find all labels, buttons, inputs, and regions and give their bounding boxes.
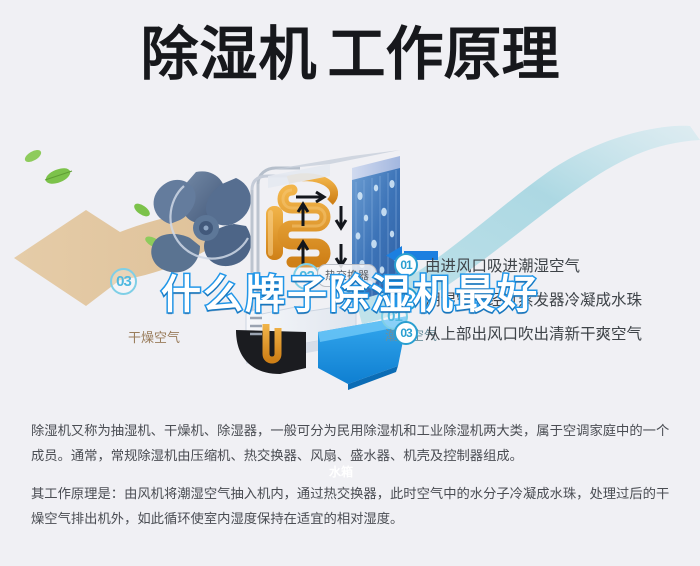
- page-title: 除湿机工作原理: [0, 26, 700, 84]
- body-copy: 除湿机又称为抽湿机、干燥机、除湿器，一般可分为民用除湿机和工业除湿机两大类，属于…: [31, 418, 671, 544]
- leaf-icon: [132, 201, 152, 219]
- paragraph-1: 除湿机又称为抽湿机、干燥机、除湿器，一般可分为民用除湿机和工业除湿机两大类，属于…: [31, 418, 671, 468]
- dry-air-label: 干燥空气: [128, 327, 180, 346]
- page-title-part2: 工作原理: [328, 22, 560, 87]
- legend-text: 从上部出风口吹出清新干爽空气: [425, 322, 642, 344]
- legend-item-03: 03 从上部出风口吹出清新干爽空气: [394, 316, 642, 350]
- fan-illustration: [151, 171, 251, 272]
- watermark-overlay-text: 什么牌子除湿机最好: [0, 262, 700, 320]
- legend-number: 03: [394, 321, 418, 345]
- paragraph-2: 其工作原理是：由风机将潮湿空气抽入机内，通过热交换器，此时空气中的水分子冷凝成水…: [31, 481, 671, 531]
- leaf-icon: [23, 148, 43, 165]
- page-title-part1: 除湿机: [140, 22, 317, 87]
- leaf-icon: [44, 165, 73, 187]
- infographic-page: 除湿机工作原理: [0, 0, 700, 566]
